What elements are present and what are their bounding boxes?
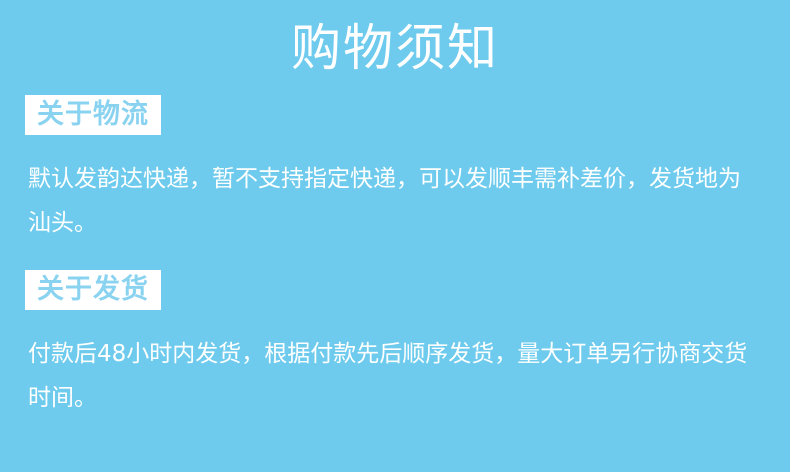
section-logistics: 关于物流 默认发韵达快递，暂不支持指定快递，可以发顺丰需补差价，发货地为汕头。 (0, 95, 790, 245)
section-body-shipping: 付款后48小时内发货，根据付款先后顺序发货，量大订单另行协商交货时间。 (28, 332, 762, 420)
section-body-logistics: 默认发韵达快递，暂不支持指定快递，可以发顺丰需补差价，发货地为汕头。 (28, 157, 762, 245)
shopping-notice-poster: 购物须知 关于物流 默认发韵达快递，暂不支持指定快递，可以发顺丰需补差价，发货地… (0, 0, 790, 472)
section-badge-shipping: 关于发货 (25, 270, 161, 310)
page-title: 购物须知 (0, 18, 790, 78)
section-badge-logistics: 关于物流 (25, 95, 161, 135)
section-shipping: 关于发货 付款后48小时内发货，根据付款先后顺序发货，量大订单另行协商交货时间。 (0, 270, 790, 420)
